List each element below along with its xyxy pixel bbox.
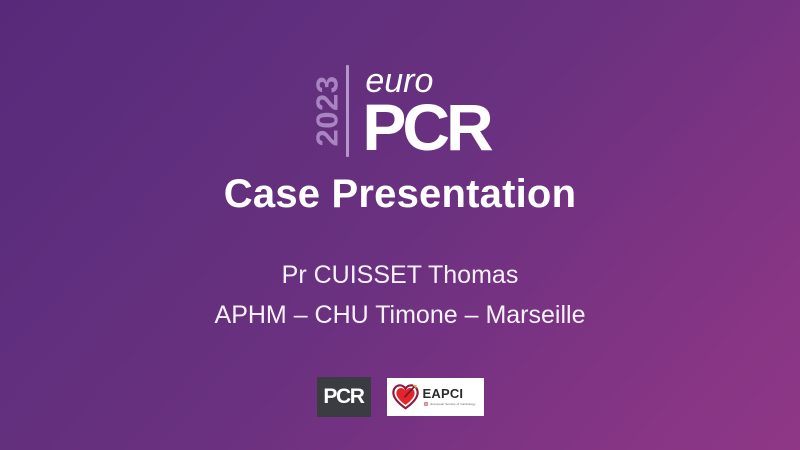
eapci-name-label: EAPCI [423, 387, 476, 401]
footer-logos: PCR EAPCI European Society of Cardiology [0, 377, 800, 417]
esc-mark-icon [423, 401, 429, 407]
europcr-logo: 2023 euro PCR [0, 58, 800, 163]
slide-title: Case Presentation [0, 172, 800, 217]
presenter-name: Pr CUISSET Thomas [0, 256, 800, 296]
pcr-logo-badge: PCR [317, 377, 371, 417]
logo-year: 2023 [310, 61, 344, 161]
eapci-subtitle-label: European Society of Cardiology [431, 402, 476, 406]
europcr-logo-inner: 2023 euro PCR [310, 61, 489, 161]
pcr-logo-label: PCR [323, 385, 363, 409]
logo-pcr-label: PCR [362, 98, 489, 156]
logo-wordmark: euro PCR [362, 61, 489, 161]
presenter-affiliation: APHM – CHU Timone – Marseille [0, 296, 800, 336]
presentation-slide: 2023 euro PCR Case Presentation Pr CUISS… [0, 0, 800, 450]
presenter-block: Pr CUISSET Thomas APHM – CHU Timone – Ma… [0, 256, 800, 335]
eapci-text-block: EAPCI European Society of Cardiology [423, 387, 476, 408]
eapci-logo-badge: EAPCI European Society of Cardiology [387, 378, 484, 416]
logo-year-label: 2023 [309, 75, 345, 146]
eapci-heart-icon [392, 384, 419, 411]
logo-divider [346, 65, 349, 157]
eapci-subtitle-row: European Society of Cardiology [423, 401, 476, 407]
